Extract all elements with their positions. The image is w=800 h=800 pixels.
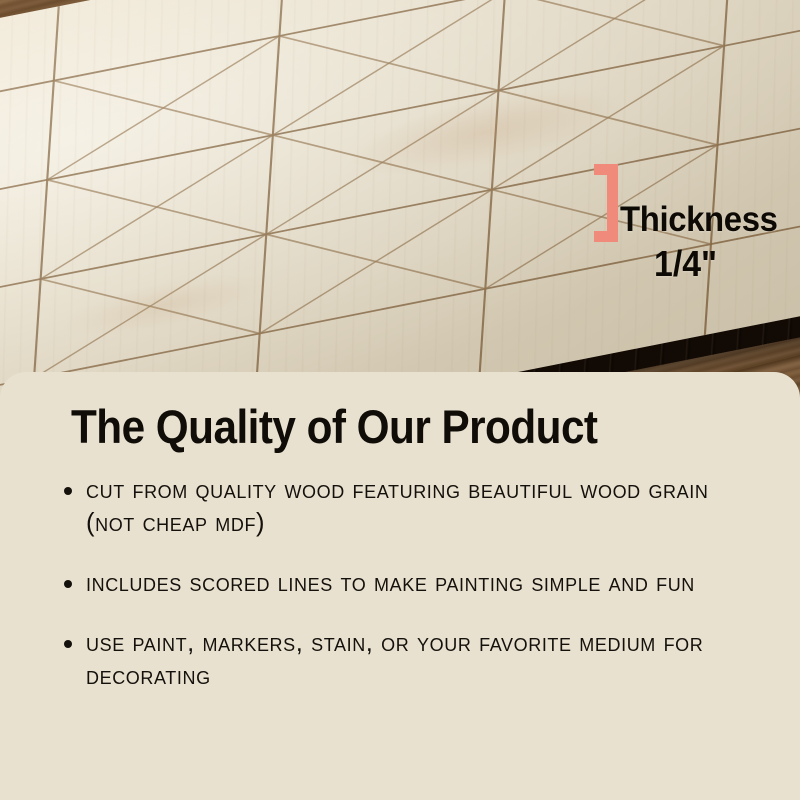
bracket-cap-bottom xyxy=(594,231,618,242)
feature-bullet-list: Cut from quality wood featuring beautifu… xyxy=(58,474,742,694)
quality-info-panel: The Quality of Our Product Cut from qual… xyxy=(0,372,800,800)
thickness-value: 1/4" xyxy=(654,246,717,282)
page-title: The Quality of Our Product xyxy=(71,402,675,452)
bullet-text: Cut from quality wood featuring beautifu… xyxy=(86,474,742,540)
bullet-text: Includes scored lines to make painting s… xyxy=(86,567,742,600)
product-infographic: Thickness 1/4" The Quality of Our Produc… xyxy=(0,0,800,800)
thickness-label: Thickness xyxy=(620,202,778,237)
list-item: Includes scored lines to make painting s… xyxy=(58,567,742,600)
product-photo: Thickness 1/4" xyxy=(0,0,800,400)
bullet-text: Use paint, markers, stain, or your favor… xyxy=(86,627,742,693)
list-item: Cut from quality wood featuring beautifu… xyxy=(58,474,742,540)
list-item: Use paint, markers, stain, or your favor… xyxy=(58,627,742,693)
thickness-callout: Thickness 1/4" xyxy=(592,160,797,295)
thickness-bracket-icon xyxy=(592,164,618,242)
